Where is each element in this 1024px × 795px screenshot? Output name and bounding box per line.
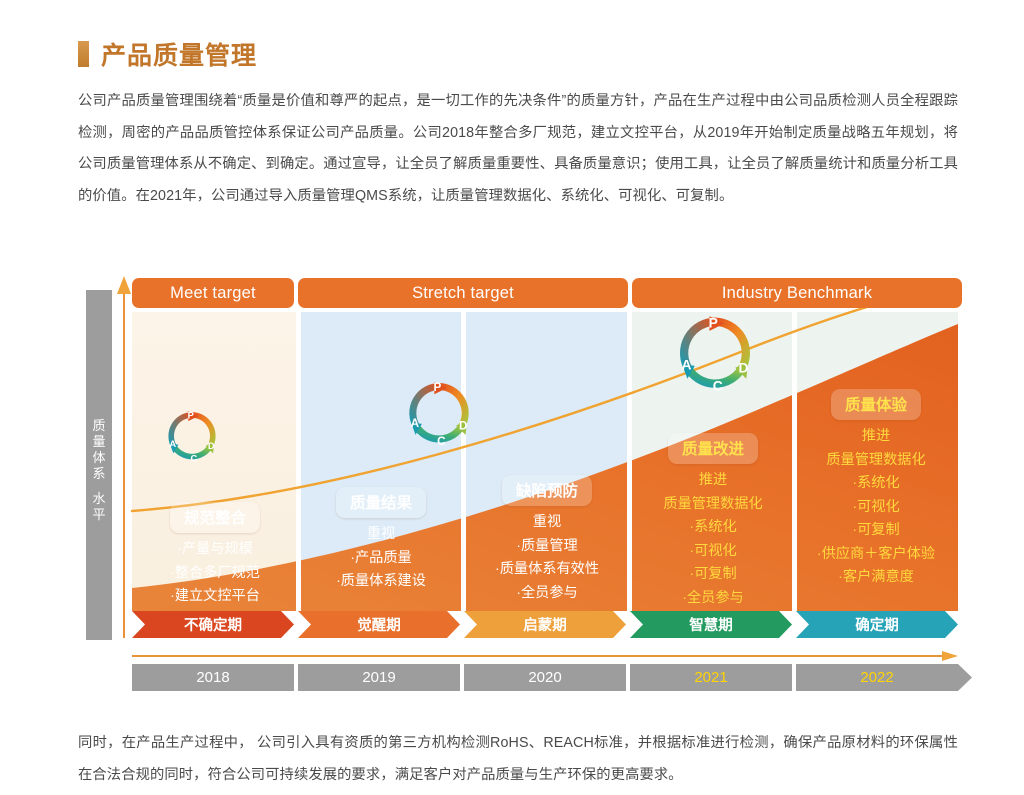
column-item: 重视 [466, 511, 628, 535]
column-item: ·可复制 [794, 519, 958, 543]
column-item: ·供应商＋客户体验 [794, 543, 958, 567]
phase-band-industry-benchmark[interactable]: Industry Benchmark [632, 278, 962, 308]
year-label: 2021 [694, 669, 727, 686]
year-label: 2022 [860, 669, 893, 686]
y-axis-label-char-1: 量 [92, 434, 105, 450]
year-row: 2018 2019 2020 2021 2022 [132, 664, 952, 691]
y-axis-label-char-4: 水 [92, 491, 105, 507]
column-content-2021: 质量改进 推进 质量管理数据化 ·系统化 ·可视化 ·可复制 ·全员参与 [632, 433, 794, 610]
column-items: 推进 质量管理数据化 ·系统化 ·可视化 ·可复制 ·全员参与 [632, 469, 794, 610]
column-items: 重视 ·产品质量 ·质量体系建设 [300, 523, 462, 594]
stage-ribbon-2018[interactable]: 不确定期 [132, 611, 294, 638]
column-item: ·质量体系建设 [300, 570, 462, 594]
column-items: ·产量与规模 ·整合多厂规范 ·建立文控平台 [134, 538, 296, 609]
stage-ribbon-2021[interactable]: 智慧期 [630, 611, 792, 638]
stage-label: 智慧期 [689, 614, 733, 635]
stage-ribbon-2019[interactable]: 觉醒期 [298, 611, 460, 638]
phase-band-meet-target[interactable]: Meet target [132, 278, 294, 308]
column-tag: 缺陷预防 [502, 475, 592, 506]
phase-band-label: Industry Benchmark [722, 284, 872, 303]
column-item: ·可视化 [632, 540, 794, 564]
column-content-2022: 质量体验 推进 质量管理数据化 ·系统化 ·可视化 ·可复制 ·供应商＋客户体验… [794, 389, 958, 590]
column-tag: 质量体验 [831, 389, 921, 420]
closing-paragraph: 同时，在产品生产过程中， 公司引入具有资质的第三方机构检测RoHS、REACH标… [78, 728, 958, 791]
column-item: ·产品质量 [300, 547, 462, 571]
column-content-2020: 缺陷预防 重视 ·质量管理 ·质量体系有效性 ·全员参与 [466, 475, 628, 605]
column-item: 质量管理数据化 [794, 449, 958, 473]
stage-label: 启蒙期 [523, 614, 567, 635]
page-header: 产品质量管理 [78, 36, 257, 72]
column-item: ·产量与规模 [134, 538, 296, 562]
column-item: ·质量体系有效性 [466, 558, 628, 582]
year-cell-2020[interactable]: 2020 [464, 664, 626, 691]
heading-accent-bar [78, 41, 89, 67]
column-item: 推进 [632, 469, 794, 493]
column-items: 推进 质量管理数据化 ·系统化 ·可视化 ·可复制 ·供应商＋客户体验 ·客户满… [794, 425, 958, 590]
y-axis-label-char-2: 体 [92, 450, 105, 466]
column-item: ·整合多厂规范 [134, 562, 296, 586]
y-axis-label: 质 量 体 系 水 平 [86, 418, 112, 523]
stage-ribbon-2022[interactable]: 确定期 [796, 611, 958, 638]
column-item: ·可视化 [794, 496, 958, 520]
column-item: ·系统化 [794, 472, 958, 496]
stage-label: 觉醒期 [357, 614, 401, 635]
column-item: ·可复制 [632, 563, 794, 587]
column-item: ·建立文控平台 [134, 585, 296, 609]
column-content-2018: 规范整合 ·产量与规模 ·整合多厂规范 ·建立文控平台 [134, 502, 296, 609]
column-item: ·全员参与 [466, 582, 628, 606]
column-item: ·质量管理 [466, 535, 628, 559]
y-axis-label-char-5: 平 [92, 507, 105, 523]
stage-ribbon-2020[interactable]: 启蒙期 [464, 611, 626, 638]
column-item: 质量管理数据化 [632, 493, 794, 517]
year-label: 2019 [362, 669, 395, 686]
year-cell-2019[interactable]: 2019 [298, 664, 460, 691]
stage-label: 确定期 [855, 614, 899, 635]
phase-band-label: Stretch target [412, 284, 514, 303]
column-tag: 质量改进 [668, 433, 758, 464]
year-label: 2020 [528, 669, 561, 686]
x-axis-arrow [132, 651, 958, 661]
column-tag: 质量结果 [336, 487, 426, 518]
year-cell-2022[interactable]: 2022 [796, 664, 972, 691]
column-item: ·全员参与 [632, 587, 794, 611]
y-axis-label-char-0: 质 [92, 418, 105, 434]
column-items: 重视 ·质量管理 ·质量体系有效性 ·全员参与 [466, 511, 628, 605]
stage-ribbon-row: 不确定期 觉醒期 启蒙期 智慧期 确定期 [132, 611, 952, 638]
page-title: 产品质量管理 [101, 36, 257, 72]
year-cell-2021[interactable]: 2021 [630, 664, 792, 691]
column-content-2019: 质量结果 重视 ·产品质量 ·质量体系建设 [300, 487, 462, 594]
quality-maturity-diagram: 质 量 体 系 水 平 Meet target Stretch target I… [78, 268, 958, 693]
intro-paragraph: 公司产品质量管理围绕着“质量是价值和尊严的起点，是一切工作的先决条件”的质量方针… [78, 86, 958, 212]
column-item: ·系统化 [632, 516, 794, 540]
column-item: 重视 [300, 523, 462, 547]
year-cell-2018[interactable]: 2018 [132, 664, 294, 691]
stage-label: 不确定期 [184, 614, 242, 635]
column-item: 推进 [794, 425, 958, 449]
year-label: 2018 [196, 669, 229, 686]
phase-band-label: Meet target [170, 284, 256, 303]
column-tag: 规范整合 [170, 502, 260, 533]
phase-band-stretch-target[interactable]: Stretch target [298, 278, 628, 308]
column-item: ·客户满意度 [794, 566, 958, 590]
y-axis-label-char-3: 系 [92, 466, 105, 482]
